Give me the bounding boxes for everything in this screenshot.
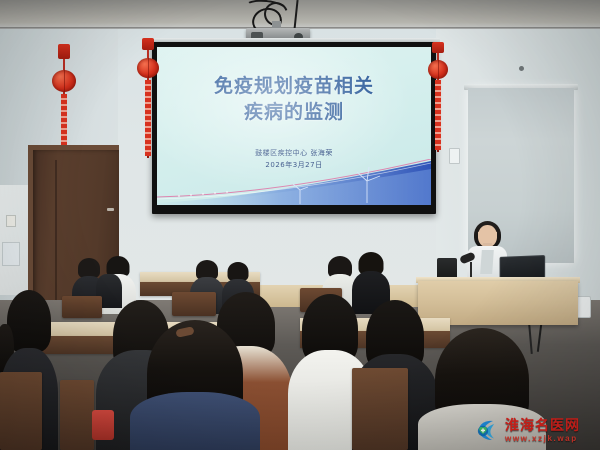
light-switch[interactable]: [449, 148, 460, 164]
lantern-ball-right: [137, 58, 159, 78]
projection-screen: 免疫规划疫苗相关 疾病的监测 鼓楼区疾控中心 张海荣 2026年3月27日: [157, 47, 431, 205]
slide-title-line-2: 疾病的监测: [157, 99, 431, 125]
presenter-coat-lapel: [480, 250, 494, 274]
noticeboard-paper: [2, 242, 20, 266]
chair-front-2[interactable]: [352, 368, 408, 450]
lantern-topper-left: [58, 44, 70, 59]
lantern-tassel-right: [145, 80, 151, 156]
audience-person-front-1: [130, 320, 260, 450]
lantern-tassel-far-right: [435, 80, 441, 150]
slide-title-line-1: 免疫规划疫苗相关: [157, 73, 431, 99]
slide-decorative-band: [157, 159, 431, 205]
door-handle[interactable]: [107, 208, 114, 211]
chair-front-1[interactable]: [0, 372, 42, 450]
lantern-decoration-far-right: [432, 42, 444, 152]
lantern-topper-far-right: [432, 42, 444, 53]
lantern-ball-far-right: [428, 60, 448, 79]
slide-presenter-line: 鼓楼区疾控中心 张海荣: [157, 147, 431, 159]
watermark-url: www.xzjk.wap: [505, 435, 580, 443]
noticeboard-sticker: [6, 215, 16, 227]
projection-screen-frame: 免疫规划疫苗相关 疾病的监测 鼓楼区疾控中心 张海荣 2026年3月27日: [152, 42, 436, 214]
person-body: [130, 392, 260, 450]
wall-sensor-icon: [519, 66, 524, 71]
slide-title: 免疫规划疫苗相关 疾病的监测: [157, 73, 431, 125]
ceiling: [0, 0, 600, 30]
lantern-topper-right: [142, 38, 154, 50]
site-watermark: 淮海名医网 www.xzjk.wap: [474, 414, 596, 448]
logo-svg: [474, 417, 502, 445]
watermark-site-name: 淮海名医网: [505, 419, 580, 433]
photo-scene: 免疫规划疫苗相关 疾病的监测 鼓楼区疾控中心 张海荣 2026年3月27日: [0, 0, 600, 450]
red-cup: [92, 410, 114, 440]
audience-cup-holder: [86, 400, 128, 450]
slide-band-graphic: [157, 159, 431, 205]
lantern-ball-left: [52, 70, 76, 92]
watermark-logo-icon: [474, 417, 502, 445]
lantern-decoration-right: [142, 38, 154, 158]
watermark-text: 淮海名医网 www.xzjk.wap: [505, 419, 580, 443]
